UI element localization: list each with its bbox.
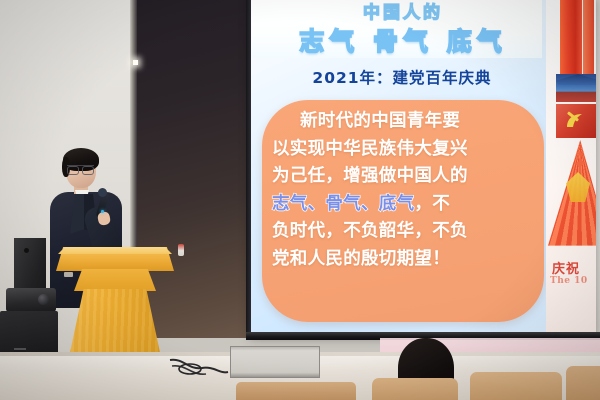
- decor-caption-cn: 庆祝: [552, 258, 580, 277]
- slide-decor-strip: 庆祝 The 10: [546, 0, 596, 332]
- water-bottle: [178, 244, 184, 256]
- chair-back-2: [470, 372, 562, 400]
- slide-body-line-3: 志气、骨气、底气，不: [270, 191, 538, 219]
- podium-neck: [74, 269, 156, 291]
- wall-light-spot: [133, 60, 138, 65]
- slide-body-line-1: 以实现中华民族伟大复兴: [270, 136, 538, 164]
- slide-title-main: 志气 骨气 底气: [272, 22, 534, 58]
- decor-caption-en: The 10: [550, 276, 588, 286]
- microphone-head-icon: [98, 188, 107, 197]
- chair-back-3: [566, 366, 600, 400]
- slide-subtitle: 2021年：建党百年庆典: [268, 66, 536, 88]
- slide-body-accent: 志气、骨气、底气: [272, 194, 414, 214]
- podium-nameplate: [64, 272, 73, 277]
- slide-body-line-4: 负时代，不负韶华，不负: [270, 218, 538, 246]
- slide-body-text: 新时代的中国青年要以实现中华民族伟大复兴为己任，增强做中国人的志气、骨气、底气，…: [270, 108, 538, 316]
- cables: [168, 356, 230, 380]
- slide-body-line-0: 新时代的中国青年要: [270, 108, 538, 136]
- chair-back-left: [236, 382, 356, 400]
- chair-back-1: [372, 378, 458, 400]
- slide-title-top: 中国人的: [278, 0, 528, 23]
- stage-vent-panel: [230, 346, 320, 378]
- podium-top-edge: [58, 247, 172, 254]
- slide-body-line-2: 为己任，增强做中国人的: [270, 163, 538, 191]
- slide-body-line-5: 党和人民的殷切期望！: [270, 246, 538, 274]
- screen-frame-left: [246, 0, 251, 340]
- screenshot-root: 中国人的 志气 骨气 底气 2021年：建党百年庆典 新时代的中国青年要以实现中…: [0, 0, 600, 400]
- amplifier-knob-icon: [38, 294, 49, 305]
- microphone-led-icon: [101, 210, 104, 213]
- red-pillar-icon: [560, 0, 582, 82]
- red-pillar-2-icon: [583, 0, 594, 82]
- glasses-icon: [67, 165, 94, 173]
- hammer-sickle-icon: [564, 111, 586, 131]
